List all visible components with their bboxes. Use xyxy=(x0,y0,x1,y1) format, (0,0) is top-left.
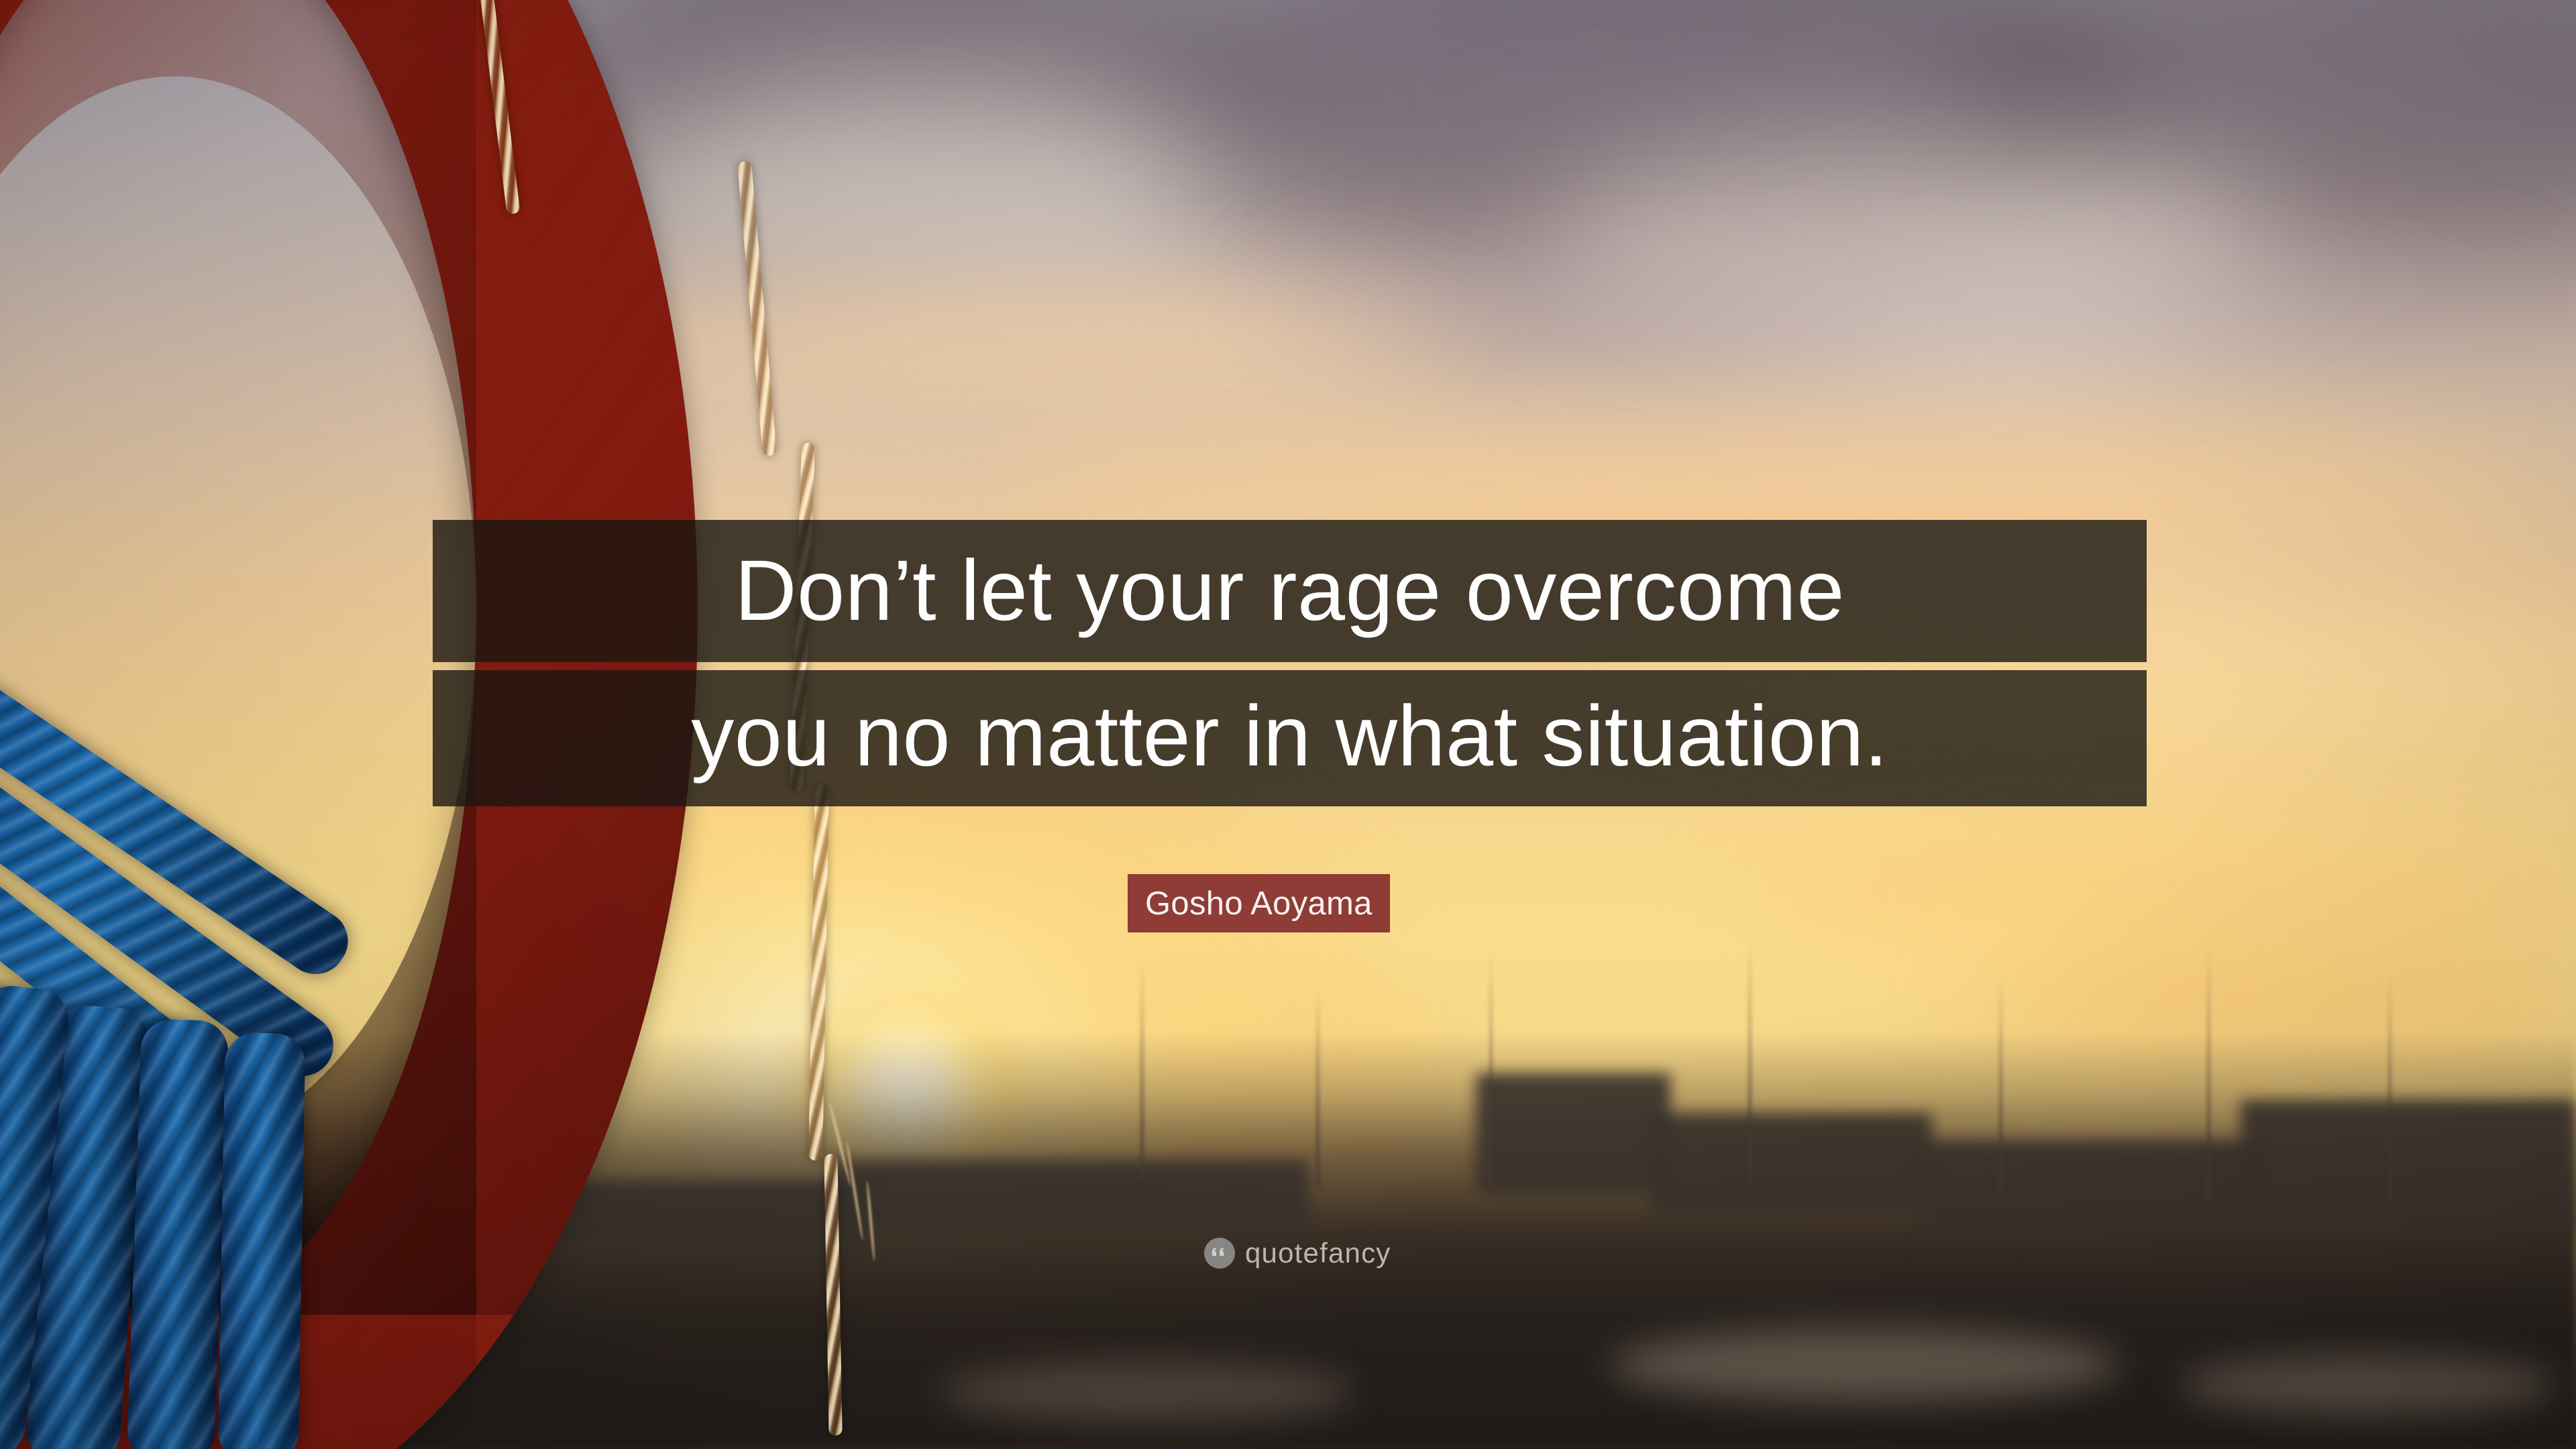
harbor-building xyxy=(1650,1114,1932,1214)
boat-mast xyxy=(1748,939,1752,1187)
cloud-streak xyxy=(1275,241,2549,356)
watermark-brand: quotefancy xyxy=(1245,1239,1391,1267)
water-reflection xyxy=(2180,1355,2556,1415)
quote-line-1: Don’t let your rage overcome xyxy=(433,520,2147,662)
harbor-building xyxy=(2241,1100,2576,1234)
harbor-building xyxy=(839,1161,1308,1234)
boat-mast xyxy=(1316,986,1320,1187)
watermark[interactable]: quotefancy xyxy=(1204,1238,1391,1269)
water-reflection xyxy=(939,1362,1355,1422)
water-reflection xyxy=(1610,1328,2120,1402)
boat-mast xyxy=(1489,953,1493,1187)
harbor-building xyxy=(1476,1073,1670,1194)
quote-block: Don’t let your rage overcome you no matt… xyxy=(433,520,2147,806)
boat-mast xyxy=(1140,959,1144,1181)
harbor-building xyxy=(1919,1140,2267,1234)
blue-rope xyxy=(217,1032,305,1449)
boat-mast xyxy=(1999,979,2002,1194)
cloud-streak xyxy=(1979,959,2576,1040)
author-badge: Gosho Aoyama xyxy=(1128,874,1390,932)
boat-mast xyxy=(2207,946,2210,1201)
cloud-streak xyxy=(1744,845,2576,953)
blue-rope xyxy=(127,1018,229,1449)
boat-mast xyxy=(2388,973,2392,1201)
quote-mark-icon xyxy=(1204,1238,1235,1269)
quote-line-2: you no matter in what situation. xyxy=(433,670,2147,806)
quote-image-canvas: Don’t let your rage overcome you no matt… xyxy=(0,0,2576,1449)
author-name: Gosho Aoyama xyxy=(1145,885,1373,922)
